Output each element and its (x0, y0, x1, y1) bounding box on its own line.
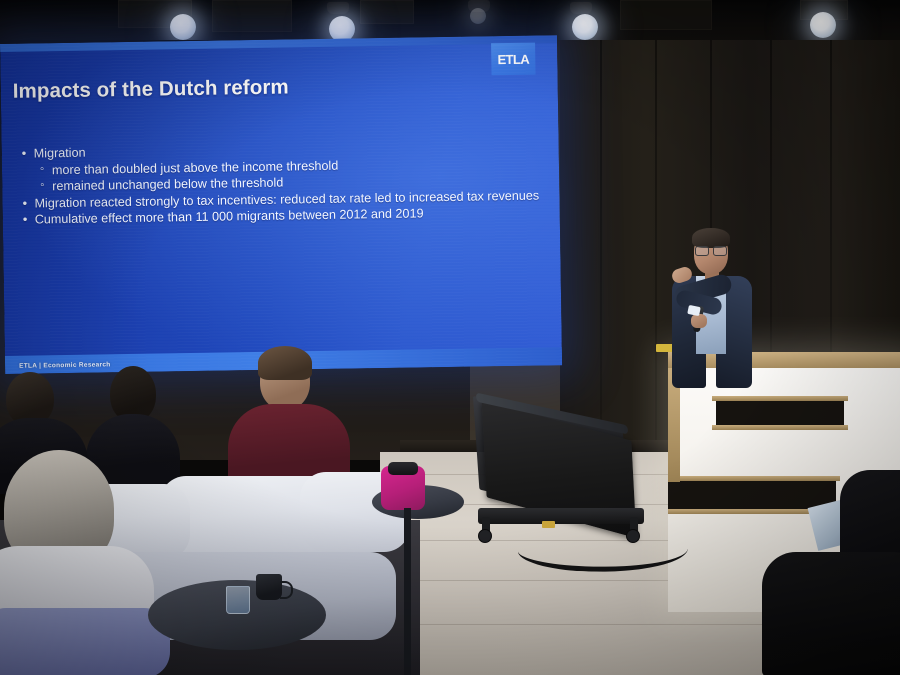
ceiling-spotlight (470, 8, 486, 24)
ceiling-spotlight (810, 12, 836, 38)
spotlight-housing (327, 2, 349, 14)
spotlight-housing (168, 2, 190, 14)
audience-member (232, 352, 342, 482)
presenter (660, 228, 770, 428)
presentation-photo: ETLA Impacts of the Dutch reform Migrati… (0, 0, 900, 675)
hair-bun (258, 346, 312, 380)
projection-screen[interactable]: ETLA Impacts of the Dutch reform Migrati… (0, 35, 562, 374)
table-stem (404, 508, 411, 675)
projector-scanlines (0, 35, 562, 374)
mic-hand (691, 314, 707, 328)
lounge-seat-front[interactable] (0, 608, 170, 675)
foreground-chair[interactable] (762, 552, 900, 675)
monitor-cart-base (478, 508, 644, 524)
ceiling-panel (360, 0, 414, 24)
coffee-mug[interactable] (256, 574, 282, 600)
ceiling-panel (620, 0, 712, 30)
caster-wheel (478, 529, 492, 543)
ceiling-panel (212, 0, 292, 32)
s-cutout-lower (668, 480, 836, 510)
speaker-top-panel (388, 462, 418, 475)
s-edge (668, 476, 840, 481)
ceiling-spotlight (572, 14, 598, 40)
confidence-monitor[interactable] (470, 405, 670, 555)
glasses-icon (695, 246, 727, 254)
water-glass[interactable] (226, 586, 250, 614)
ceiling-spotlight (170, 14, 196, 40)
hair (692, 228, 730, 248)
spotlight-housing (570, 2, 592, 14)
